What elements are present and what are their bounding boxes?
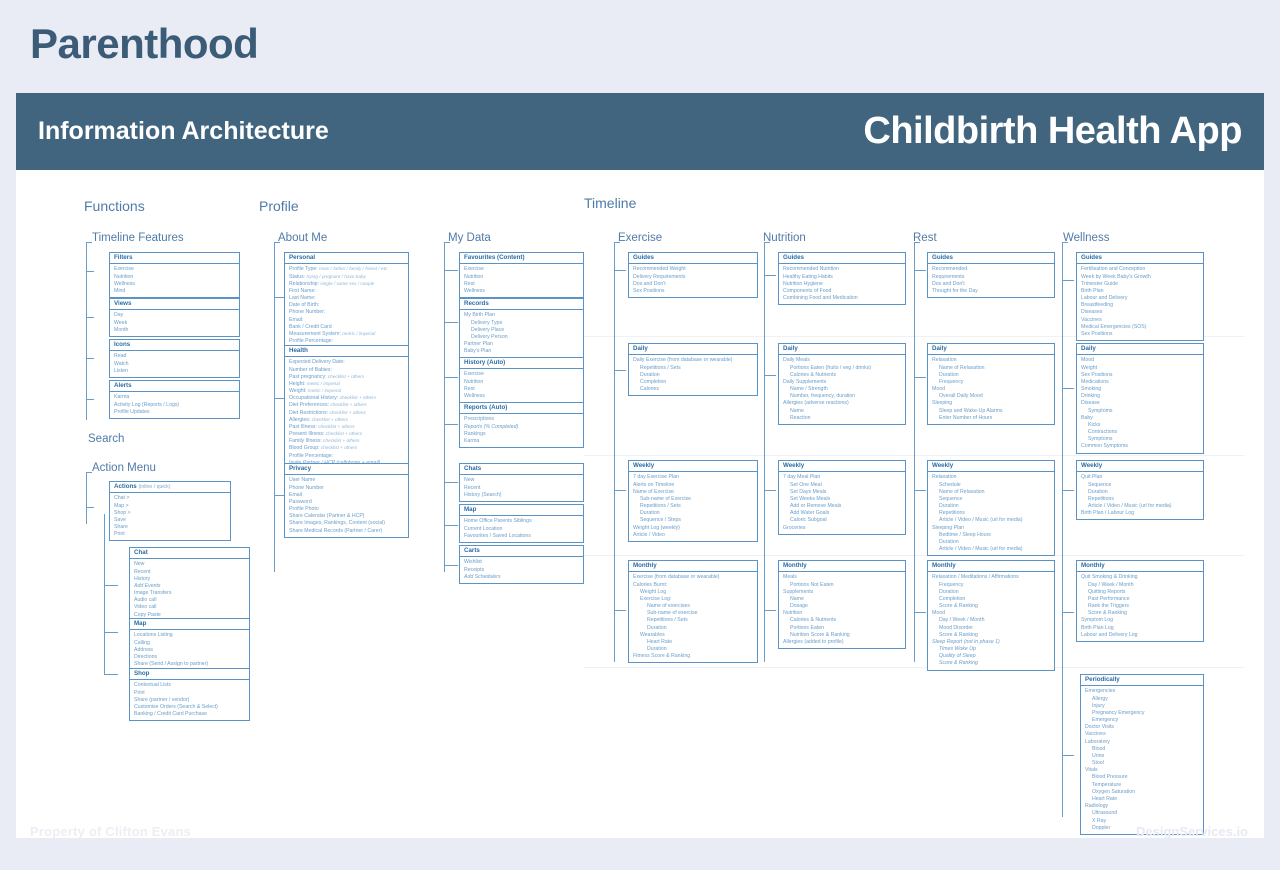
connector — [444, 377, 458, 378]
box-list-item: Read — [114, 353, 236, 360]
box-list-item: Bedtime / Sleep Hours — [932, 532, 1051, 539]
box-list-item: Quitting Reports — [1081, 589, 1200, 596]
box-list-item: Calories Burnt: — [633, 582, 754, 589]
box-title: Monthly — [1077, 561, 1203, 572]
box-list-item: Favourites / Saved Locations — [464, 533, 580, 540]
box-list-item: Dos and Don't — [633, 281, 754, 288]
connector — [1062, 490, 1074, 491]
box-list-item: Duration — [633, 625, 754, 632]
box-list-item: Banking / Credit Card Purchase — [134, 711, 246, 718]
box-body: Exercise (from database or wearable)Calo… — [629, 572, 757, 662]
box-list-item: Combining Food and Medication — [783, 295, 902, 302]
box-list-item: Baby's Plan — [464, 348, 580, 355]
box-list-item: Diet Restrictions: checklist + others — [289, 410, 405, 417]
box-rest-monthly[interactable]: Monthly Relaxation / Meditations / Affir… — [927, 560, 1055, 671]
box-exercise-daily[interactable]: Daily Daily Exercise (from database or w… — [628, 343, 758, 396]
box-list-item: Temperature — [1085, 782, 1200, 789]
box-list-item: Schedule — [932, 482, 1051, 489]
box-list-item: Exercise — [464, 266, 580, 273]
connector — [444, 482, 458, 483]
box-list-item: Duration — [633, 510, 754, 517]
box-list-item: Daily Supplements — [783, 379, 902, 386]
box-list-item: Calling — [134, 640, 246, 647]
box-rest-weekly[interactable]: Weekly RelaxationScheduleName of Relaxat… — [927, 460, 1055, 556]
box-list-item: Heart Rate — [1085, 796, 1200, 803]
box-list-item: Frequency — [932, 379, 1051, 386]
box-list-item: Heart Rate — [633, 639, 754, 646]
box-list-item: Karma — [464, 438, 580, 445]
box-alerts[interactable]: Alerts KarmaActivity Log (Reports / Logs… — [109, 380, 240, 419]
box-list-item: Weight Log — [633, 589, 754, 596]
connector — [1062, 612, 1074, 613]
box-list-item: Profile Updates — [114, 409, 236, 416]
box-list-item: Score & Ranking — [932, 632, 1051, 639]
box-list-item-note: mom / father / family / friend / etc — [318, 266, 388, 271]
box-list-item: Portions Not Eaten — [783, 582, 902, 589]
connector — [86, 317, 94, 318]
connector — [444, 565, 458, 566]
box-list-item: Expected Delivery Date: — [289, 359, 405, 366]
box-list-item: Video call — [134, 604, 246, 611]
box-nutrition-guides[interactable]: Guides Recommended NutritionHealthy Eati… — [778, 252, 906, 305]
box-list-item-note: checklist + others — [329, 402, 367, 407]
box-list-item: Repetitions / Sets — [633, 503, 754, 510]
box-list-item-note: checklist + others — [324, 431, 362, 436]
box-list-item: Symptoms — [1081, 408, 1200, 415]
connector — [764, 490, 776, 491]
box-list-item: Chat > — [114, 495, 227, 502]
box-list-item: Sex Positions — [633, 288, 754, 295]
box-title: Monthly — [779, 561, 905, 572]
box-body: My Birth PlanDelivery TypeDelivery Place… — [460, 310, 583, 357]
box-body: ReadWatchListen — [110, 351, 239, 377]
box-list-item: Weight: metric / imperial — [289, 388, 405, 395]
group-heading-timeline-features: Timeline Features — [92, 232, 184, 244]
box-rest-guides[interactable]: Guides RecommendedRequirementsDos and Do… — [927, 252, 1055, 298]
connector — [764, 242, 770, 243]
box-list-item: Medical Emergencies (SOS) — [1081, 324, 1200, 331]
box-list-item-note: checklist + others — [322, 438, 360, 443]
connector — [914, 490, 926, 491]
box-body: 7 day Meal PlanSet One MealSet Days Meal… — [779, 472, 905, 533]
box-title: Icons — [110, 340, 239, 351]
box-list-item: Overall Daily Mood — [932, 393, 1051, 400]
box-list-item: Allergy — [1085, 696, 1200, 703]
box-list-item: Mind — [114, 288, 236, 295]
box-list-item-note: metric / imperial — [305, 381, 339, 386]
box-list-item: Nutrition Hygiene — [783, 281, 902, 288]
box-list-item: Day / Week / Month — [932, 617, 1051, 624]
box-list-item: Doctor Visits — [1085, 724, 1200, 731]
box-privacy[interactable]: Privacy User NamePhone NumberEmailPasswo… — [284, 463, 409, 538]
connector — [764, 275, 776, 276]
box-list-item: Nutrition Score & Ranking — [783, 632, 902, 639]
box-list-item: Score & Ranking — [932, 660, 1051, 667]
box-list-item: Number, frequency, duration — [783, 393, 902, 400]
box-list-item: Duration — [633, 646, 754, 653]
box-list-item: Nutrition — [464, 379, 580, 386]
box-list-item: Month — [114, 327, 236, 334]
box-list-item: Name — [783, 596, 902, 603]
connector — [1062, 755, 1074, 756]
box-list-item: Medications — [1081, 379, 1200, 386]
box-chat[interactable]: Chat NewRecentHistoryAdd EventsImage Tra… — [129, 547, 250, 622]
box-body: EmergenciesAllergyInjuryPregnancy Emerge… — [1081, 686, 1203, 833]
box-list-item: Name of Relaxation — [932, 365, 1051, 372]
box-health[interactable]: Health Expected Delivery Date:Number of … — [284, 345, 409, 470]
box-title: Chat — [130, 548, 249, 559]
box-title: Filters — [110, 253, 239, 264]
box-body: NewRecentHistory (Search) — [460, 475, 583, 501]
box-body: ExerciseNutritionRestWellness — [460, 264, 583, 297]
box-periodically[interactable]: Periodically EmergenciesAllergyInjuryPre… — [1080, 674, 1204, 835]
box-body: Daily Exercise (from database or wearabl… — [629, 355, 757, 395]
box-title: History (Auto) — [460, 358, 583, 369]
page-title: Parenthood — [30, 20, 258, 68]
box-list-item: User Name — [289, 477, 405, 484]
box-title: Weekly — [629, 461, 757, 472]
row-separator — [584, 667, 1244, 668]
box-list-item: Save — [114, 517, 227, 524]
box-list-item: Emergencies — [1085, 688, 1200, 695]
footer-right: DesignServices.io — [1136, 824, 1248, 839]
box-body: PrescriptionsReports (% Completed)Rankin… — [460, 414, 583, 447]
box-map-data[interactable]: Map Home Office Parents SiblingsCurrent … — [459, 504, 584, 543]
box-shop[interactable]: Shop Contextual ListsPrintShare (partner… — [129, 668, 250, 721]
connector — [274, 398, 284, 399]
connector — [104, 632, 118, 633]
connector — [444, 322, 458, 323]
box-list-item: Delivery Place — [464, 327, 580, 334]
box-list-item: Relationship: single / same sex / couple — [289, 281, 405, 288]
connector — [86, 399, 94, 400]
header-title: Childbirth Health App — [863, 110, 1242, 153]
box-rest-daily[interactable]: Daily RelaxationName of RelaxationDurati… — [927, 343, 1055, 425]
box-list-item: Week — [114, 320, 236, 327]
connector — [764, 375, 776, 376]
connector — [614, 270, 626, 271]
box-body: Fertilisation and ConceptionWeek by Week… — [1077, 264, 1203, 340]
box-favourites[interactable]: Favourites (Content) ExerciseNutritionRe… — [459, 252, 584, 298]
box-map-actions[interactable]: Map Locations ListingCallingAddressDirec… — [129, 618, 250, 671]
box-list-item: Wellness — [114, 281, 236, 288]
box-list-item: Week by Week Baby's Growth — [1081, 274, 1200, 281]
box-list-item: Delivery Person — [464, 334, 580, 341]
box-body: ExerciseNutritionWellnessMind — [110, 264, 239, 297]
box-list-item: Healthy Eating Habits — [783, 274, 902, 281]
box-list-item: Allergies (adverse reactions) — [783, 400, 902, 407]
box-body: Quit PlanSequenceDurationRepetitionsArti… — [1077, 472, 1203, 519]
box-list-item: Sub-name of exercise — [633, 610, 754, 617]
box-filters[interactable]: Filters ExerciseNutritionWellnessMind — [109, 252, 240, 298]
group-heading-action-menu: Action Menu — [92, 462, 156, 474]
box-list-item: Relaxation / Meditations / Affirmations — [932, 574, 1051, 581]
box-list-item: Set Days Meals — [783, 489, 902, 496]
box-list-item: Audio call — [134, 597, 246, 604]
box-list-item: Name of Exercise — [633, 489, 754, 496]
box-title: Actions (inline / quick) — [110, 482, 230, 493]
box-list-item: Reaction — [783, 415, 902, 422]
box-list-item: Labour and Delivery Log — [1081, 632, 1200, 639]
box-title: Carts — [460, 546, 583, 557]
box-body: Recommended WeightDelivery RequirementsD… — [629, 264, 757, 297]
box-list-item: Frequency — [932, 582, 1051, 589]
box-list-item: Contextual Lists — [134, 682, 246, 689]
box-list-item: Meals — [783, 574, 902, 581]
connector — [444, 270, 458, 271]
box-list-item: Trimester Guide — [1081, 281, 1200, 288]
box-title: Guides — [629, 253, 757, 264]
box-list-item: Vitals — [1085, 767, 1200, 774]
connector — [104, 514, 105, 674]
box-list-item: Vaccines — [1085, 731, 1200, 738]
box-list-item: Rankings — [464, 431, 580, 438]
connector — [914, 270, 926, 271]
box-list-item: Quit Plan — [1081, 474, 1200, 481]
box-title: Monthly — [629, 561, 757, 572]
box-list-item: Disease — [1081, 400, 1200, 407]
box-title: Health — [285, 346, 408, 357]
box-list-item: Delivery Requirements — [633, 274, 754, 281]
box-title: Weekly — [928, 461, 1054, 472]
box-list-item: Radiology — [1085, 803, 1200, 810]
box-list-item: Last Name: — [289, 295, 405, 302]
box-list-item: Add or Remove Meals — [783, 503, 902, 510]
box-title: Guides — [779, 253, 905, 264]
box-title: Daily — [928, 344, 1054, 355]
box-list-item: Injury — [1085, 703, 1200, 710]
box-title: Map — [130, 619, 249, 630]
box-wellness-monthly[interactable]: Monthly Quit Smoking & DrinkingDay / Wee… — [1076, 560, 1204, 642]
box-list-item: Diseases — [1081, 309, 1200, 316]
box-list-item: Nutrition — [783, 610, 902, 617]
connector — [614, 370, 626, 371]
box-list-item-note: metric / imperial — [307, 388, 341, 393]
connector — [914, 242, 920, 243]
box-title: Daily — [629, 344, 757, 355]
box-list-item: Past Illness: checklist + others — [289, 424, 405, 431]
box-list-item: Family Illness: checklist + others — [289, 438, 405, 445]
box-list-item: Dosage — [783, 603, 902, 610]
box-list-item: Symptoms — [1081, 436, 1200, 443]
box-list-item: Name of exercises — [633, 603, 754, 610]
column-heading-functions: Functions — [84, 198, 145, 214]
box-exercise-guides[interactable]: Guides Recommended WeightDelivery Requir… — [628, 252, 758, 298]
box-list-item: Daily Meals — [783, 357, 902, 364]
box-list-item: Calories & Nutrients — [783, 372, 902, 379]
box-list-item: Rest — [464, 281, 580, 288]
box-list-item: Article / Video / Music (url for media) — [932, 517, 1051, 524]
box-title: Views — [110, 299, 239, 310]
group-heading-my-data: My Data — [448, 232, 491, 244]
box-list-item: Occupational History: checklist + others — [289, 395, 405, 402]
box-list-item: Recommended Nutrition — [783, 266, 902, 273]
box-list-item: Home Office Parents Siblings — [464, 518, 580, 525]
box-list-item: Nutrition — [464, 274, 580, 281]
box-list-item: Thought for the Day — [932, 288, 1051, 295]
box-list-item: Emergency — [1085, 717, 1200, 724]
box-list-item: Score & Ranking — [932, 603, 1051, 610]
box-list-item: Print — [134, 690, 246, 697]
connector — [444, 242, 445, 572]
box-list-item: Map > — [114, 503, 227, 510]
connector — [104, 674, 118, 675]
box-title: Daily — [1077, 344, 1203, 355]
box-list-item: Labour and Delivery — [1081, 295, 1200, 302]
box-list-item: Set Weeks Meals — [783, 496, 902, 503]
box-reports-auto[interactable]: Reports (Auto) PrescriptionsReports (% C… — [459, 402, 584, 448]
box-list-item: Smoking — [1081, 386, 1200, 393]
box-actions[interactable]: Actions (inline / quick) Chat >Map >Shop… — [109, 481, 231, 541]
box-body: User NamePhone NumberEmailPasswordProfil… — [285, 475, 408, 536]
box-list-item: Number of Babies: — [289, 367, 405, 374]
box-list-item: Dos and Don't — [932, 281, 1051, 288]
box-list-item: Repetitions / Sets — [633, 617, 754, 624]
box-list-item: Image Transfers — [134, 590, 246, 597]
box-title: Map — [460, 505, 583, 516]
box-wellness-guides[interactable]: Guides Fertilisation and ConceptionWeek … — [1076, 252, 1204, 341]
box-body: ExerciseNutritionRestWellness — [460, 369, 583, 402]
box-list-item: Alerts on Timeline — [633, 482, 754, 489]
connector — [614, 242, 620, 243]
box-list-item: Status: trying / pregnant / have baby — [289, 274, 405, 281]
box-list-item: Email — [289, 492, 405, 499]
box-list-item: Article / Video / Music (url for media) — [1081, 503, 1200, 510]
box-list-item-note: checklist + others — [310, 417, 348, 422]
box-body: 7 day Exercise PlanAlerts on TimelineNam… — [629, 472, 757, 541]
box-list-item: Print — [114, 531, 227, 538]
box-title: Shop — [130, 669, 249, 680]
connector — [914, 242, 915, 662]
box-title: Guides — [928, 253, 1054, 264]
box-list-item: Exercise Log: — [633, 596, 754, 603]
box-list-item: Ultrasound — [1085, 810, 1200, 817]
box-body: Locations ListingCallingAddressDirection… — [130, 630, 249, 670]
box-body: Contextual ListsPrintShare (partner / ve… — [130, 680, 249, 720]
box-list-item: Exercise (from database or wearable) — [633, 574, 754, 581]
box-wellness-weekly[interactable]: Weekly Quit PlanSequenceDurationRepetiti… — [1076, 460, 1204, 520]
box-list-item: Profile Percentage: — [289, 453, 405, 460]
box-list-item: Contractions — [1081, 429, 1200, 436]
box-list-item: Nutrition — [114, 274, 236, 281]
box-list-item: Shop > — [114, 510, 227, 517]
box-list-item: Allergies: checklist + others — [289, 417, 405, 424]
box-list-item: Share Calendar (Partner & HCP) — [289, 513, 405, 520]
box-title: Privacy — [285, 464, 408, 475]
box-title: Records — [460, 299, 583, 310]
box-list-item: Symptom Log — [1081, 617, 1200, 624]
box-list-item: 7 day Exercise Plan — [633, 474, 754, 481]
box-list-item: Receipts — [464, 567, 580, 574]
box-views[interactable]: Views DayWeekMonth — [109, 298, 240, 337]
box-list-item: Enter Number of Hours — [932, 415, 1051, 422]
box-nutrition-monthly[interactable]: Monthly MealsPortions Not EatenSupplemen… — [778, 560, 906, 649]
box-nutrition-daily[interactable]: Daily Daily MealsPortions Eaten (fruits … — [778, 343, 906, 425]
box-list-item: Mood — [932, 610, 1051, 617]
box-list-item: Activity Log (Reports / Logs) — [114, 402, 236, 409]
box-icons[interactable]: Icons ReadWatchListen — [109, 339, 240, 378]
box-list-item: Completion — [633, 379, 754, 386]
box-records[interactable]: Records My Birth PlanDelivery TypeDelive… — [459, 298, 584, 358]
box-list-item: Sleeping Plan — [932, 525, 1051, 532]
box-list-item: Profile Type: mom / father / family / fr… — [289, 266, 405, 273]
box-list-item: Recommended Weight — [633, 266, 754, 273]
box-list-item: Recommended — [932, 266, 1051, 273]
box-title: Weekly — [1077, 461, 1203, 472]
box-list-item: Diet Preferences: checklist + others — [289, 402, 405, 409]
box-body: MealsPortions Not EatenSupplementsNameDo… — [779, 572, 905, 648]
box-list-item: Rank the Triggers — [1081, 603, 1200, 610]
box-list-item: Mood — [932, 386, 1051, 393]
box-list-item: Quality of Sleep — [932, 653, 1051, 660]
column-heading-profile: Profile — [259, 198, 299, 214]
connector — [444, 242, 450, 243]
box-list-item: Karma — [114, 394, 236, 401]
box-list-item: Groceries — [783, 525, 902, 532]
box-list-item: Day — [114, 312, 236, 319]
box-list-item: Add Water Goals — [783, 510, 902, 517]
connector — [914, 612, 926, 613]
box-body: RelaxationScheduleName of RelaxationSequ… — [928, 472, 1054, 555]
box-chats[interactable]: Chats NewRecentHistory (Search) — [459, 463, 584, 502]
box-wellness-daily[interactable]: Daily MoodWeightSex PositionsMedications… — [1076, 343, 1204, 454]
box-body: Expected Delivery Date:Number of Babies:… — [285, 357, 408, 469]
box-list-item: Mood — [1081, 357, 1200, 364]
box-list-item-note: trying / pregnant / have baby — [305, 274, 366, 279]
box-personal[interactable]: Personal Profile Type: mom / father / fa… — [284, 252, 409, 348]
box-list-item: Duration — [1081, 489, 1200, 496]
box-body: Relaxation / Meditations / AffirmationsF… — [928, 572, 1054, 669]
box-title: Monthly — [928, 561, 1054, 572]
box-list-item: My Birth Plan — [464, 312, 580, 319]
box-list-item: History — [134, 576, 246, 583]
box-exercise-monthly[interactable]: Monthly Exercise (from database or weara… — [628, 560, 758, 663]
box-list-item: Phone Number — [289, 485, 405, 492]
box-list-item: Email: — [289, 317, 405, 324]
box-list-item: Wishlist — [464, 559, 580, 566]
box-list-item-note: checklist + others — [328, 410, 366, 415]
box-carts[interactable]: Carts WishlistReceiptsAdd Schedulers — [459, 545, 584, 584]
box-list-item: Name / Strength — [783, 386, 902, 393]
box-nutrition-weekly[interactable]: Weekly 7 day Meal PlanSet One MealSet Da… — [778, 460, 906, 535]
box-title: Chats — [460, 464, 583, 475]
connector — [104, 585, 118, 586]
connector — [444, 424, 458, 425]
box-list-item: Fertilisation and Conception — [1081, 266, 1200, 273]
box-list-item: Measurement System: metric / imperial — [289, 331, 405, 338]
box-title: Periodically — [1081, 675, 1203, 686]
connector — [86, 242, 87, 420]
box-list-item: Duration — [932, 503, 1051, 510]
box-list-item: New — [134, 561, 246, 568]
box-list-item: Rest — [464, 386, 580, 393]
box-list-item: Bank / Credit Card — [289, 324, 405, 331]
box-list-item: Add Events — [134, 583, 246, 590]
connector — [1062, 242, 1063, 817]
box-list-item: Sex Positions — [1081, 372, 1200, 379]
box-list-item: Birth Plan / Labour Log — [1081, 510, 1200, 517]
box-list-item: Pregnancy Emergency — [1085, 710, 1200, 717]
box-list-item: Weight Log (weekly) — [633, 525, 754, 532]
box-exercise-weekly[interactable]: Weekly 7 day Exercise PlanAlerts on Time… — [628, 460, 758, 542]
box-title: Daily — [779, 344, 905, 355]
box-history-auto[interactable]: History (Auto) ExerciseNutritionRestWell… — [459, 357, 584, 403]
box-title-sub: (inline / quick) — [138, 484, 170, 490]
box-list-item: Partner Plan — [464, 341, 580, 348]
box-body: Daily MealsPortions Eaten (fruits / veg … — [779, 355, 905, 424]
box-list-item: Prescriptions — [464, 416, 580, 423]
box-list-item: Listen — [114, 368, 236, 375]
